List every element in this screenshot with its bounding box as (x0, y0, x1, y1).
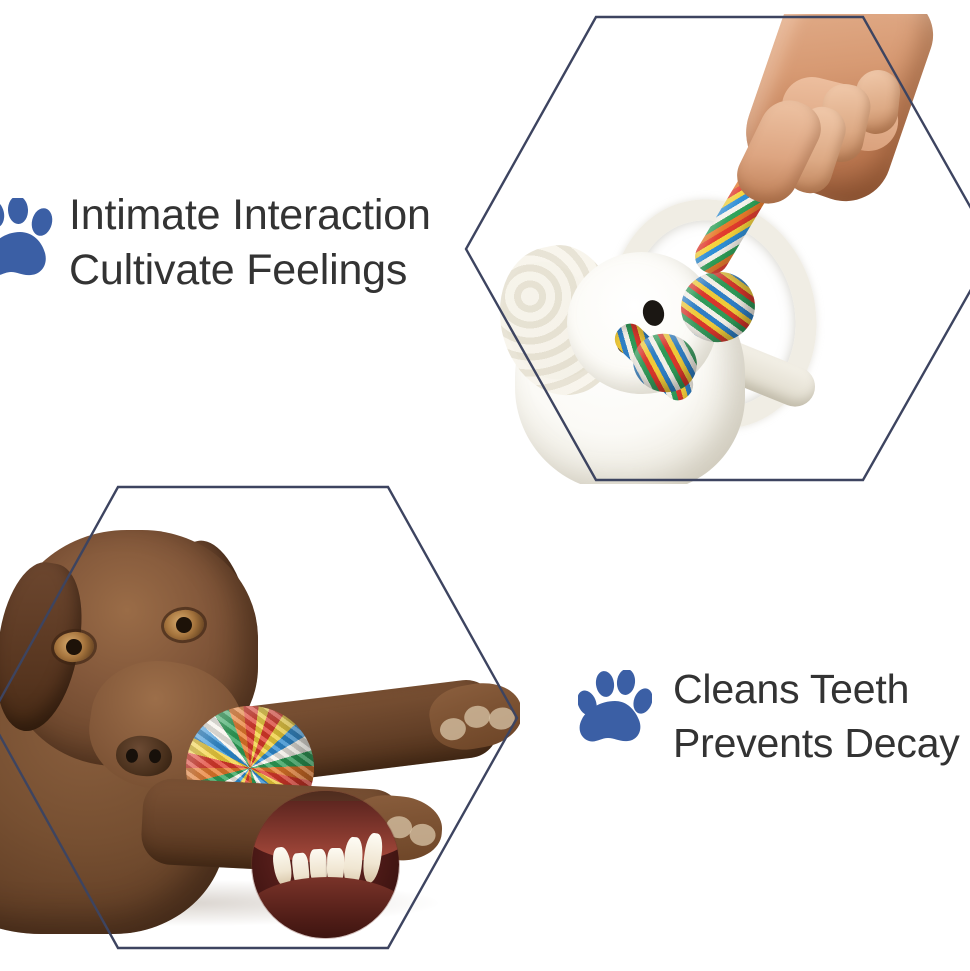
paw-print-icon (0, 198, 62, 284)
product-infographic: Intimate Interaction Cultivate Feelings … (0, 0, 970, 971)
feature-text-intimate-interaction: Intimate Interaction Cultivate Feelings (69, 188, 431, 298)
lower-lip-and-tongue (252, 877, 399, 938)
feature-headline-line2: Cultivate Feelings (69, 243, 431, 298)
hexagon-frame-top (463, 14, 970, 484)
dog-teeth-closeup-inset (252, 791, 399, 938)
feature-headline-line1: Cleans Teeth (673, 662, 960, 716)
paw-print-icon (578, 670, 652, 750)
feature-headline-line2: Prevents Decay (673, 716, 960, 770)
feature-text-cleans-teeth: Cleans Teeth Prevents Decay (673, 662, 960, 770)
feature-headline-line1: Intimate Interaction (69, 188, 431, 243)
